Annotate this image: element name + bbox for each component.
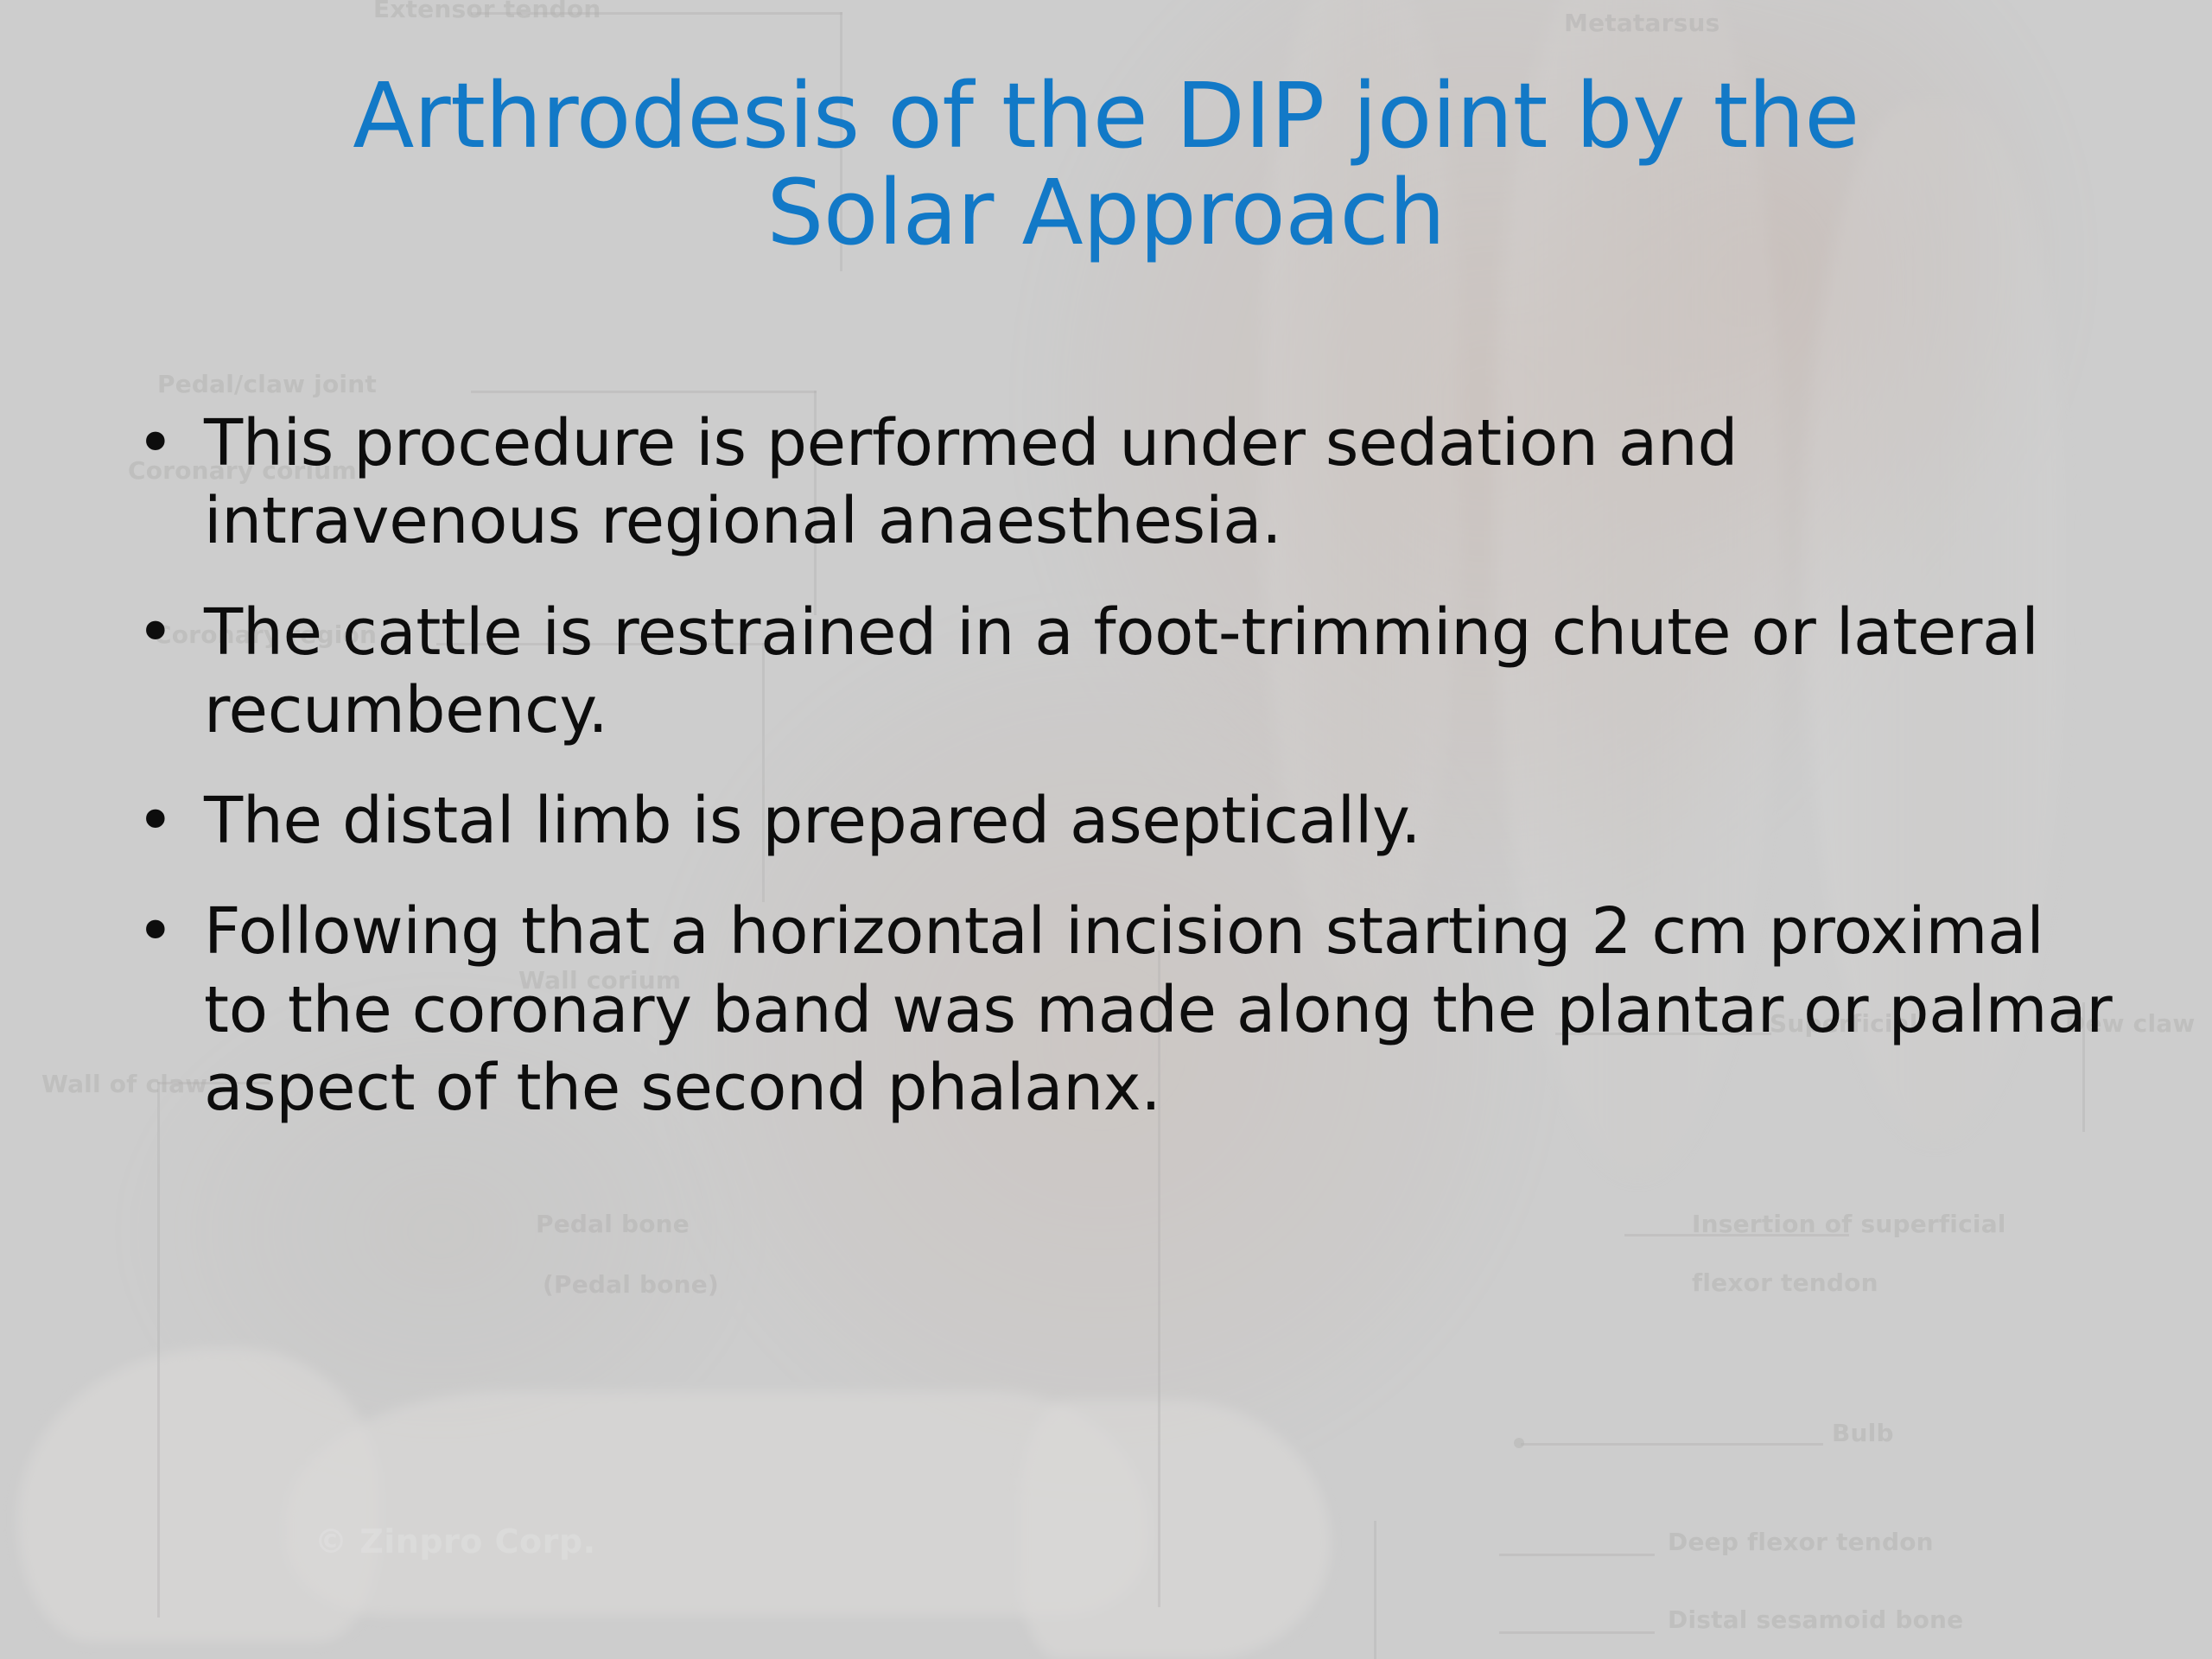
slide-bullet-list: • This procedure is performed under seda… xyxy=(121,404,2117,1160)
bullet-text: The distal limb is prepared aseptically. xyxy=(204,782,2117,860)
list-item: • Following that a horizontal incision s… xyxy=(121,893,2117,1127)
bullet-text: The cattle is restrained in a foot-trimm… xyxy=(204,594,2117,750)
presentation-slide: Extensor tendon Metatarsus Pedal/claw jo… xyxy=(0,0,2212,1659)
slide-title: Arthrodesis of the DIP joint by the Sola… xyxy=(156,67,2056,262)
slide-content: Arthrodesis of the DIP joint by the Sola… xyxy=(0,0,2212,1659)
list-item: • This procedure is performed under seda… xyxy=(121,404,2117,561)
slide-title-line-2: Solar Approach xyxy=(156,164,2056,261)
bullet-text: This procedure is performed under sedati… xyxy=(204,404,2117,561)
bullet-point-icon: • xyxy=(121,893,204,970)
bullet-point-icon: • xyxy=(121,594,204,671)
bullet-text: Following that a horizontal incision sta… xyxy=(204,893,2117,1127)
slide-title-line-1: Arthrodesis of the DIP joint by the xyxy=(156,67,2056,164)
list-item: • The distal limb is prepared asepticall… xyxy=(121,782,2117,860)
bullet-point-icon: • xyxy=(121,782,204,860)
bullet-point-icon: • xyxy=(121,404,204,482)
list-item: • The cattle is restrained in a foot-tri… xyxy=(121,594,2117,750)
